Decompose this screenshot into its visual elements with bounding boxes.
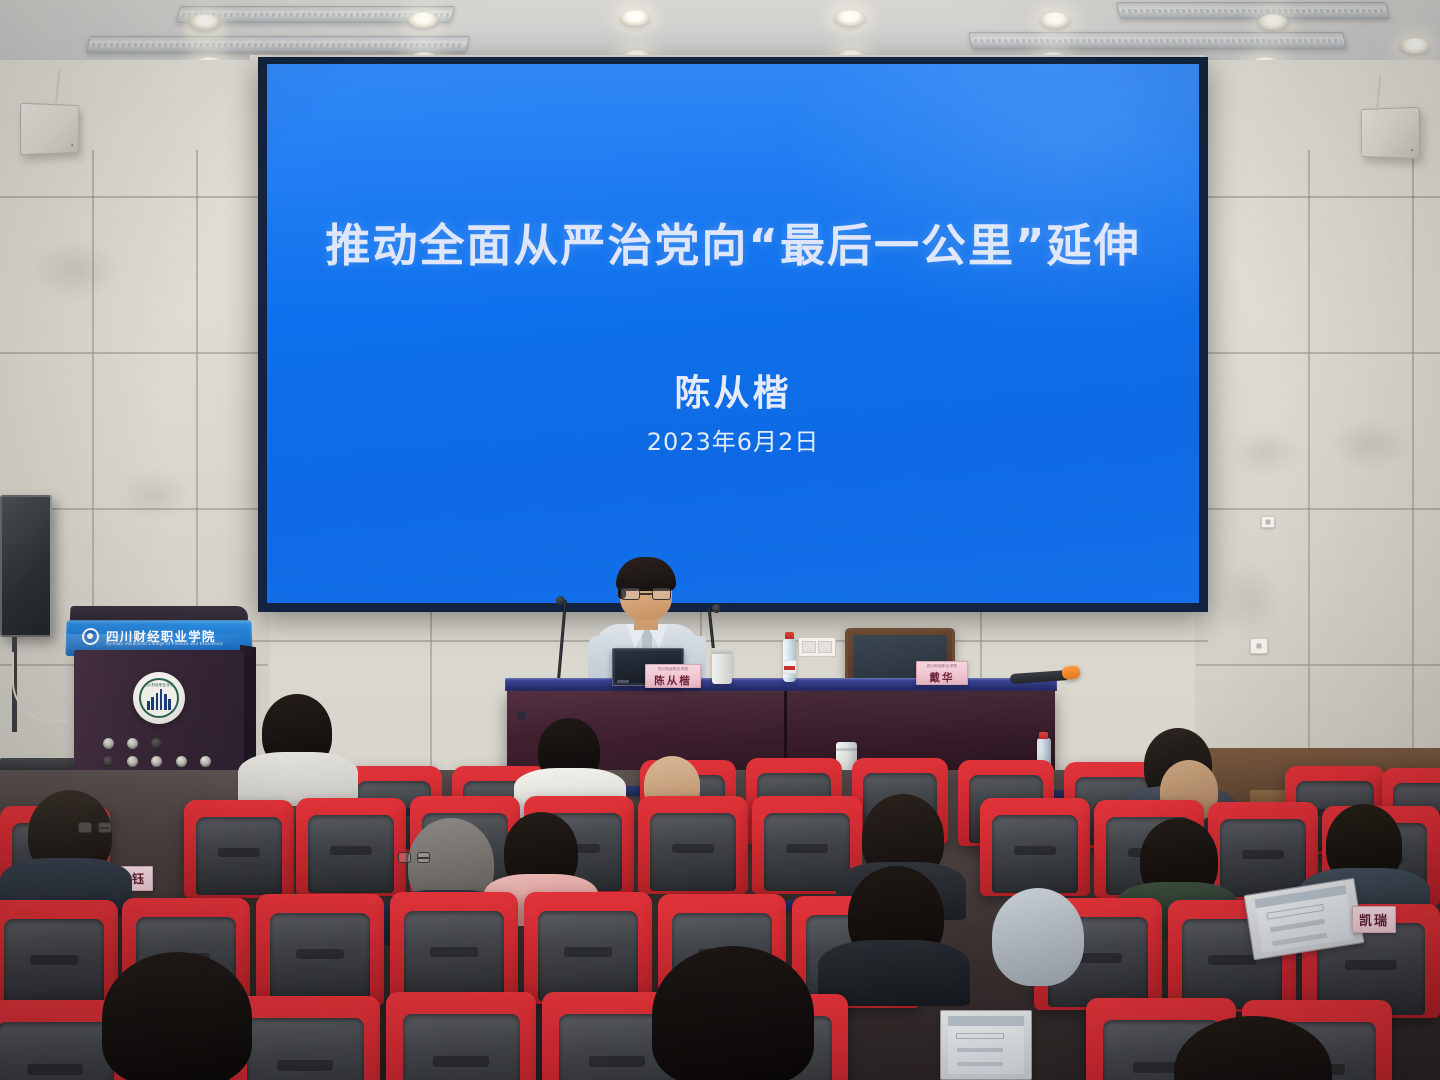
- audience-head: [652, 946, 814, 1080]
- glasses-icon: [621, 588, 671, 600]
- side-display-monitor: [0, 495, 52, 637]
- water-bottle-table: [783, 638, 796, 682]
- wall-smudge: [1330, 420, 1410, 470]
- thermos-ring: [836, 748, 857, 751]
- audience-laptop-front[interactable]: [940, 1010, 1032, 1080]
- auditorium-seat[interactable]: [0, 900, 118, 1012]
- speaker-brand-label: ●: [1410, 147, 1414, 153]
- ceiling-vent: [86, 36, 470, 53]
- wall-panel-seam: [1196, 664, 1440, 666]
- podium-school-name: 四川财经职业学院: [106, 626, 216, 645]
- wall-panel-seam: [250, 640, 1208, 642]
- wall-outlet-plate[interactable]: [1250, 638, 1268, 654]
- wall-speaker-left: ●: [20, 103, 79, 156]
- wall-panel-seam: [1196, 196, 1440, 198]
- seat-pad: [0, 1022, 114, 1080]
- auditorium-seat[interactable]: [390, 892, 518, 1004]
- laptop-screen: [948, 1016, 1024, 1073]
- school-emblem-icon: 四川财经职业学院: [133, 672, 185, 724]
- seat-pad: [247, 1018, 364, 1080]
- seat-pad: [308, 815, 394, 893]
- ceiling-downlight: [190, 14, 220, 30]
- ceiling-vent: [968, 32, 1347, 49]
- microphone-head-right: [712, 604, 721, 613]
- seat-pad: [270, 913, 370, 1003]
- emblem-bars-icon: [147, 689, 171, 716]
- auditorium-seat[interactable]: [524, 892, 652, 1004]
- glasses-icon: [78, 822, 112, 833]
- seat-pad: [650, 813, 736, 891]
- podium-school-name-en: Sichuan Vocational College of Finance an…: [106, 641, 223, 646]
- seat-pad: [992, 815, 1078, 893]
- auditorium-seat[interactable]: [386, 992, 536, 1080]
- right-wall: [1195, 60, 1440, 780]
- table-nameplate-1: 四川财经职业学院 陈从楷: [645, 664, 701, 688]
- laptop-screen: [1254, 885, 1354, 953]
- wall-power-outlet[interactable]: [798, 637, 836, 657]
- table-nameplate-2: 四川财经职业学院 戴华: [916, 661, 968, 685]
- wall-switch-plate[interactable]: [1261, 516, 1275, 528]
- ceiling-downlight: [620, 10, 650, 26]
- wall-panel-seam: [1196, 508, 1440, 510]
- seat-pad: [1220, 819, 1306, 897]
- microphone-head-left: [556, 596, 565, 605]
- water-cup: [712, 652, 732, 684]
- wall-panel-seam: [1308, 150, 1310, 780]
- emblem-ring-text: 四川财经职业学院: [141, 682, 177, 687]
- ceiling-downlight: [1258, 14, 1288, 30]
- auditorium-seat[interactable]: [296, 798, 406, 896]
- seat-pad: [403, 1014, 520, 1080]
- ceiling-vent: [1116, 2, 1390, 19]
- wall-smudge: [30, 240, 120, 300]
- nameplate-header: 四川财经职业学院: [658, 667, 688, 672]
- wall-smudge: [120, 470, 190, 520]
- emblem-inner: 四川财经职业学院: [139, 678, 179, 718]
- slide-title: 推动全面从严治党向“最后一公里”延伸: [267, 209, 1199, 274]
- switch-dot: [1266, 520, 1271, 525]
- auditorium-seat[interactable]: [256, 894, 384, 1006]
- seat-name-card-right: 凯瑞: [1352, 906, 1396, 933]
- bottle-cap: [1039, 732, 1048, 739]
- auditorium-seat[interactable]: [184, 800, 294, 898]
- ceiling-downlight: [1400, 38, 1430, 54]
- projection-screen-frame: 推动全面从严治党向“最后一公里”延伸 陈从楷 2023年6月2日: [258, 57, 1208, 612]
- wall-panel-seam: [430, 612, 432, 782]
- cup-lid: [711, 648, 733, 654]
- seat-pad: [404, 911, 504, 1001]
- wall-panel-seam: [0, 196, 268, 198]
- lecture-hall-photo: ● ● 推动全面从严治党向“最后一公里”延伸 陈从楷 2023年6月2日 四川财…: [0, 0, 1440, 1080]
- school-logo-icon: [82, 628, 99, 645]
- auditorium-seat[interactable]: [980, 798, 1090, 896]
- head-table-fitting: [517, 712, 526, 719]
- seat-pad: [538, 911, 638, 1001]
- wall-panel-seam: [1412, 150, 1414, 780]
- slide-date: 2023年6月2日: [267, 422, 1199, 457]
- wall-smudge: [1230, 430, 1300, 476]
- seat-pad: [4, 919, 104, 1009]
- wall-panel-seam: [1196, 352, 1440, 354]
- audience-head: [992, 888, 1084, 986]
- nameplate-name: 戴华: [930, 670, 955, 685]
- nameplate-header: 四川财经职业学院: [927, 664, 957, 669]
- auditorium-seat[interactable]: [230, 996, 380, 1080]
- wall-panel-seam: [0, 352, 268, 354]
- head-table-top: [505, 678, 1057, 691]
- wall-speaker-right: ●: [1361, 107, 1420, 160]
- audience-head: [102, 952, 252, 1080]
- projection-screen: 推动全面从严治党向“最后一公里”延伸 陈从楷 2023年6月2日: [267, 64, 1199, 603]
- bottle-label: [783, 660, 796, 674]
- outlet-dot: [1257, 644, 1262, 649]
- glasses-icon: [398, 852, 430, 863]
- seat-pad: [196, 817, 282, 895]
- auditorium-seat[interactable]: [638, 796, 748, 894]
- wall-smudge: [1220, 560, 1280, 640]
- presenter-hair: [616, 557, 676, 591]
- ceiling-downlight: [1040, 12, 1070, 28]
- speaker-brand-label: ●: [71, 142, 74, 148]
- laptop-badge: [617, 680, 629, 683]
- nameplate-name: 陈从楷: [654, 673, 692, 688]
- bottle-cap: [785, 632, 794, 639]
- slide-presenter-name: 陈从楷: [267, 364, 1199, 416]
- ceiling-downlight: [835, 10, 865, 26]
- ceiling-downlight: [408, 12, 438, 28]
